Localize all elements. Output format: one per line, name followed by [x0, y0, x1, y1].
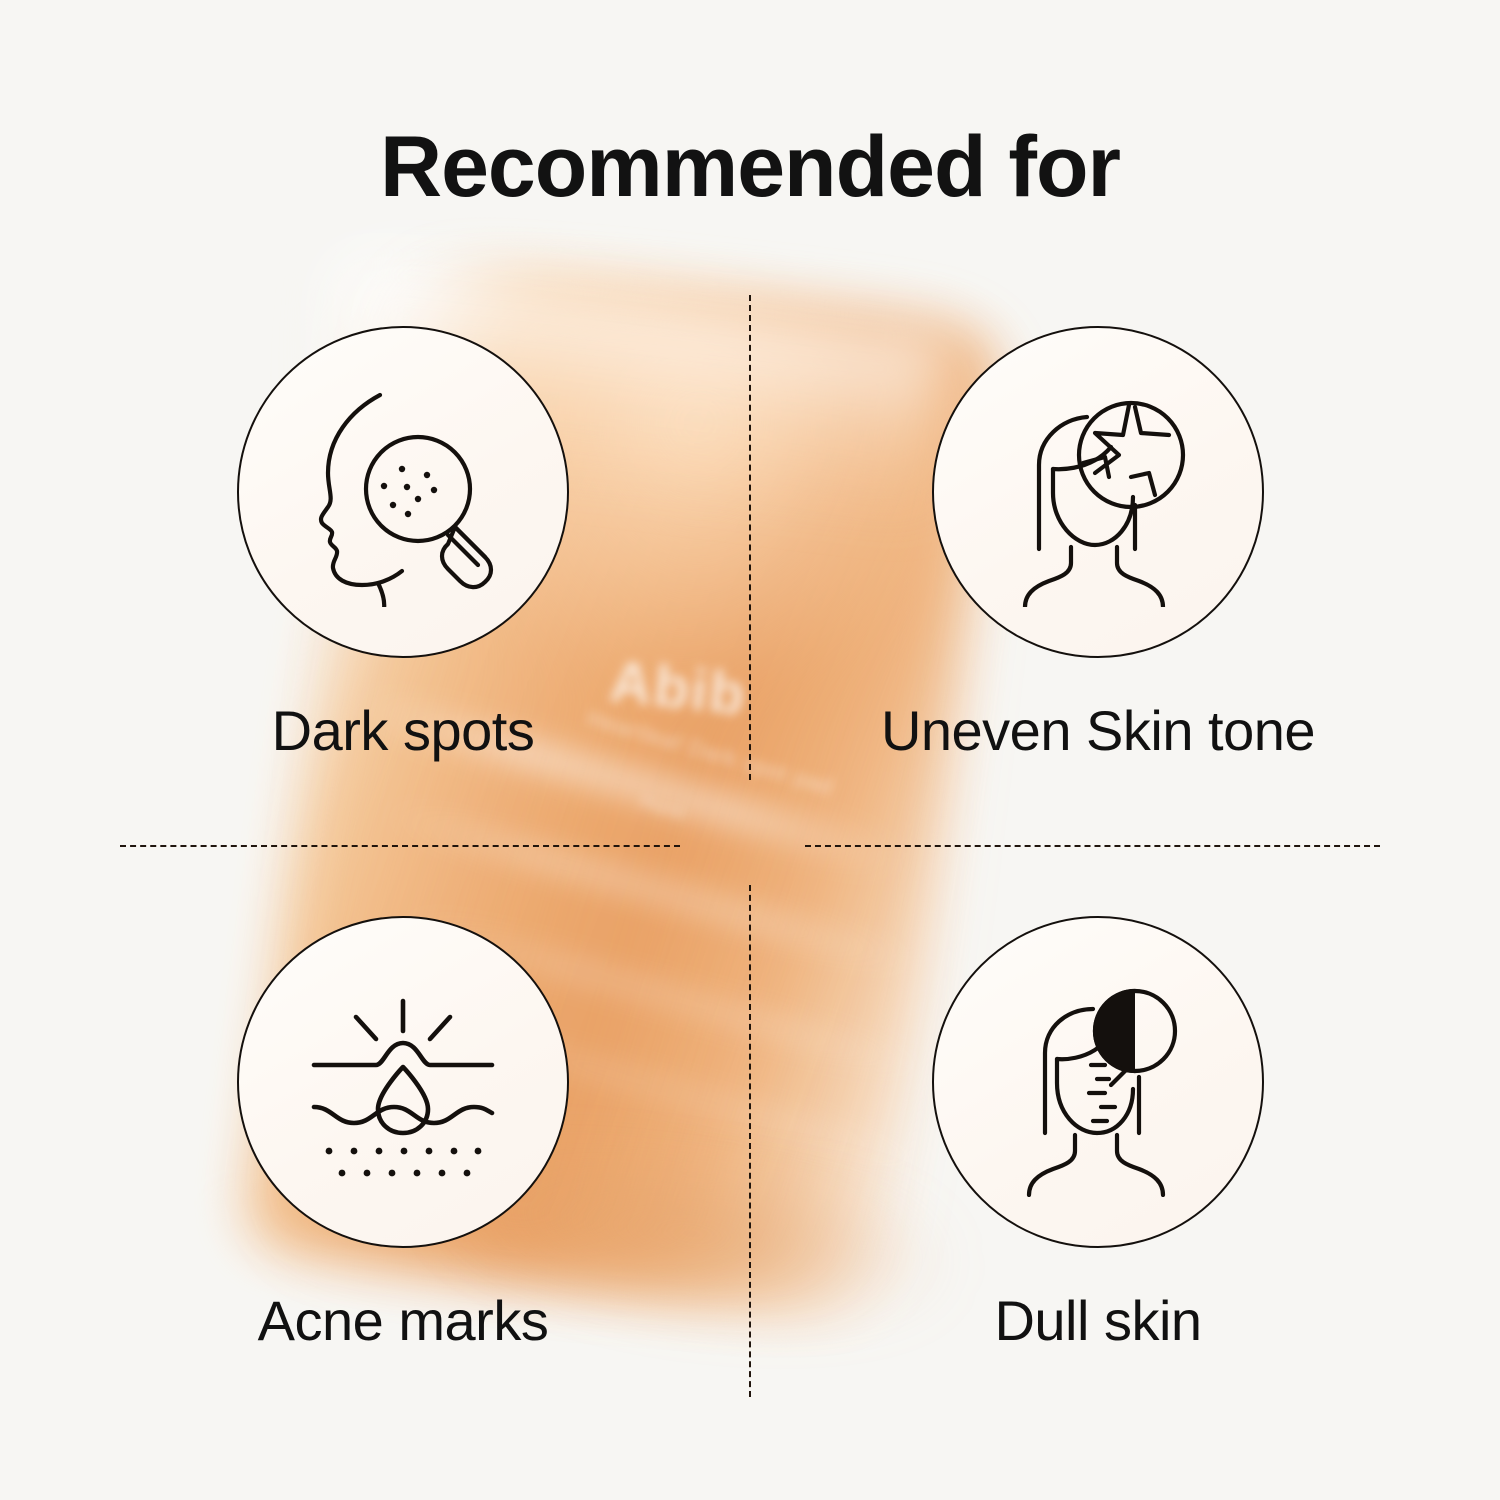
concern-label: Uneven Skin tone: [873, 698, 1323, 763]
concern-icon-circle: [237, 326, 569, 658]
concern-label: Acne marks: [178, 1288, 628, 1353]
page-title: Recommended for: [0, 118, 1500, 217]
concern-item-dark-spots[interactable]: Dark spots: [178, 326, 628, 763]
face-patchy-circle-icon: [983, 377, 1213, 607]
skin-layers-droplet-icon: [288, 967, 518, 1197]
divider-vertical-top: [749, 295, 751, 780]
divider-horizontal-right: [805, 845, 1380, 847]
divider-horizontal-left: [120, 845, 680, 847]
face-magnifier-spots-icon: [288, 377, 518, 607]
concern-icon-circle: [237, 916, 569, 1248]
concern-icon-circle: [932, 326, 1264, 658]
product-brand-text: Abib: [607, 648, 750, 729]
concern-icon-circle: [932, 916, 1264, 1248]
concern-item-dull-skin[interactable]: Dull skin: [873, 916, 1323, 1353]
face-contrast-circle-icon: [983, 967, 1213, 1197]
divider-vertical-bottom: [749, 885, 751, 1397]
concern-label: Dark spots: [178, 698, 628, 763]
product-subtitle-text: Plumit: [638, 794, 686, 824]
concern-label: Dull skin: [873, 1288, 1323, 1353]
concern-item-uneven-skin-tone[interactable]: Uneven Skin tone: [873, 326, 1323, 763]
concern-item-acne-marks[interactable]: Acne marks: [178, 916, 628, 1353]
infographic-page: Abib Heartleaf Dark spot pad Plumit Reco…: [0, 0, 1500, 1500]
